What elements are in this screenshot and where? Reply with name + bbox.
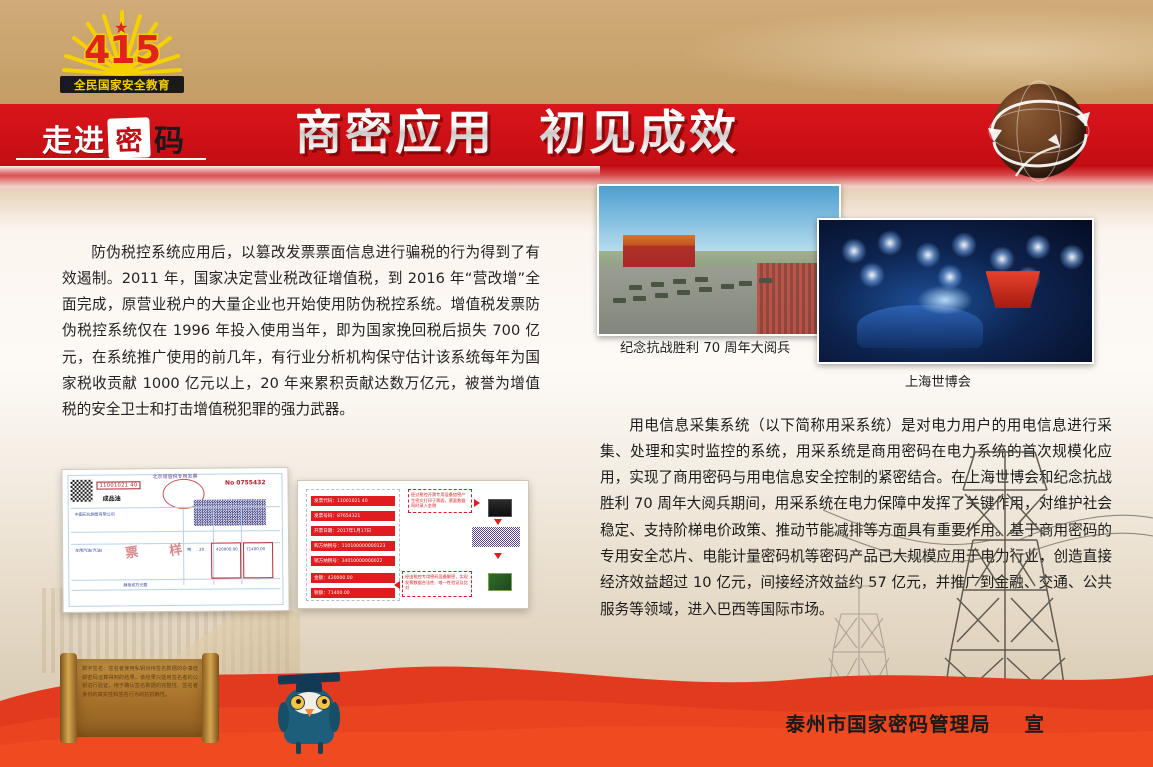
encrypted-qr-block-icon <box>472 527 520 547</box>
invoice-encryption-diagram: 发票代码：11001021 40 发票号码：87654321 开票日期：2017… <box>297 480 529 609</box>
logo-slogan: 全民国家安全教育 <box>60 76 184 93</box>
banner-subtitle-underline <box>16 158 206 160</box>
parade-photo <box>597 184 841 336</box>
invoice-2d-barcode <box>194 499 266 526</box>
invoice-row-qty: 20 <box>199 547 204 552</box>
banner-subtitle-suffix: 码 <box>154 116 184 160</box>
diagram-field-4: 销方纳税号：34010000000022 <box>311 556 395 566</box>
invoice-sample-stamp-b: 样 <box>168 538 190 560</box>
page-title-part1: 商密应用 <box>295 94 495 163</box>
invoice-row-item: 车用汽油(汽油) <box>75 548 102 554</box>
expo-photo-caption: 上海世博会 <box>905 371 971 390</box>
page-title: 商密应用 初见成效 <box>295 96 815 160</box>
diagram-arrow-down-1 <box>494 519 502 525</box>
banner-subtitle: 走进 密 码 <box>42 116 184 160</box>
invoice-code: 11001021 40 <box>96 481 140 489</box>
footer-suffix: 宣 <box>1024 713 1045 736</box>
diagram-field-panel: 发票代码：11001021 40 发票号码：87654321 开票日期：2017… <box>306 489 400 601</box>
expo-axis-structure <box>857 305 983 348</box>
china-pavilion <box>986 271 1041 308</box>
globe-graphic <box>980 72 1098 190</box>
owl-pupil-left <box>296 699 301 704</box>
invoice-sample-stamp-a: 票 <box>124 540 146 562</box>
scroll-roll-right <box>202 653 219 743</box>
logo-415: ★ 415 全民国家安全教育 <box>52 6 192 102</box>
diagram-field-3: 购方纳税号：110100000000123 <box>311 541 395 551</box>
diagram-field-0: 发票代码：11001021 40 <box>311 496 395 506</box>
scroll-roll-left <box>60 653 77 743</box>
diagram-arrow-down-2 <box>494 553 502 559</box>
expo-photo <box>817 218 1094 364</box>
owl-graduation-cap-icon <box>278 672 340 684</box>
page-title-part2: 初见成效 <box>539 94 739 163</box>
left-article-body: 防伪税控系统应用后，以篡改发票票面信息进行骗税的行为得到了有效遏制。2011 年… <box>62 240 540 424</box>
diagram-field-2: 开票日期：2017年1月17日 <box>311 526 395 536</box>
globe-arrows-icon <box>980 72 1098 190</box>
logo-number: 415 <box>72 28 172 72</box>
diagram-field-6: 税额：71400.00 <box>311 588 395 598</box>
diagram-arrow-right <box>474 499 480 507</box>
diagram-note-bottom: 经由税控专用密码设备解密，实现发票数据合法性、唯一性验证及比对 <box>402 571 472 597</box>
invoice-qr-icon <box>70 480 92 502</box>
parade-photo-caption: 纪念抗战胜利 70 周年大阅兵 <box>620 337 790 356</box>
scroll-note-text: 数字签名：签名者使用私钥对待签名数据的杂凑值做密码运算得到的结果，该结果只能用签… <box>82 665 198 699</box>
diagram-field-5: 金额：420000.00 <box>311 573 395 583</box>
invoice-total-chinese: 肆拾贰万元整 <box>123 582 147 588</box>
poster-root: ★ 415 全民国家安全教育 走进 密 码 商密应用 初见成效 <box>0 0 1153 767</box>
diagram-field-1: 发票号码：87654321 <box>311 511 395 521</box>
diagram-note-top: 经过税控开票专用设备加密产生密文打印于票面，票面数据同时录入金税 <box>408 489 472 513</box>
invoice-number: No 0755432 <box>225 479 266 486</box>
banner-white-edge <box>0 166 600 176</box>
tiananmen-gate <box>623 235 695 268</box>
owl-pupil-right <box>322 699 327 704</box>
owl-wing-left <box>278 702 289 732</box>
vat-invoice-sample: 11001021 40 北京增值税专用发票 No 0755432 成品油 中国石… <box>61 467 289 613</box>
footer-credit: 泰州市国家密码管理局 宣 <box>786 708 1045 737</box>
owl-mascot-graduate <box>272 662 348 762</box>
digital-signature-scroll: 数字签名：签名者使用私钥对待签名数据的杂凑值做密码运算得到的结果，该结果只能用签… <box>58 653 221 743</box>
invoice-buyer-name: 中国石化销售有限公司 <box>75 512 115 518</box>
tax-control-device-icon <box>488 499 512 517</box>
owl-leg-left <box>296 742 301 754</box>
invoice-category: 成品油 <box>103 493 121 502</box>
security-chip-icon <box>488 573 512 591</box>
banner-seal-char: 密 <box>107 117 150 158</box>
owl-wing-right <box>329 702 340 732</box>
diagram-arrow-left <box>394 581 400 589</box>
banner-subtitle-prefix: 走进 <box>42 116 106 160</box>
footer-org: 泰州市国家密码管理局 <box>786 713 991 736</box>
owl-leg-right <box>318 742 323 754</box>
